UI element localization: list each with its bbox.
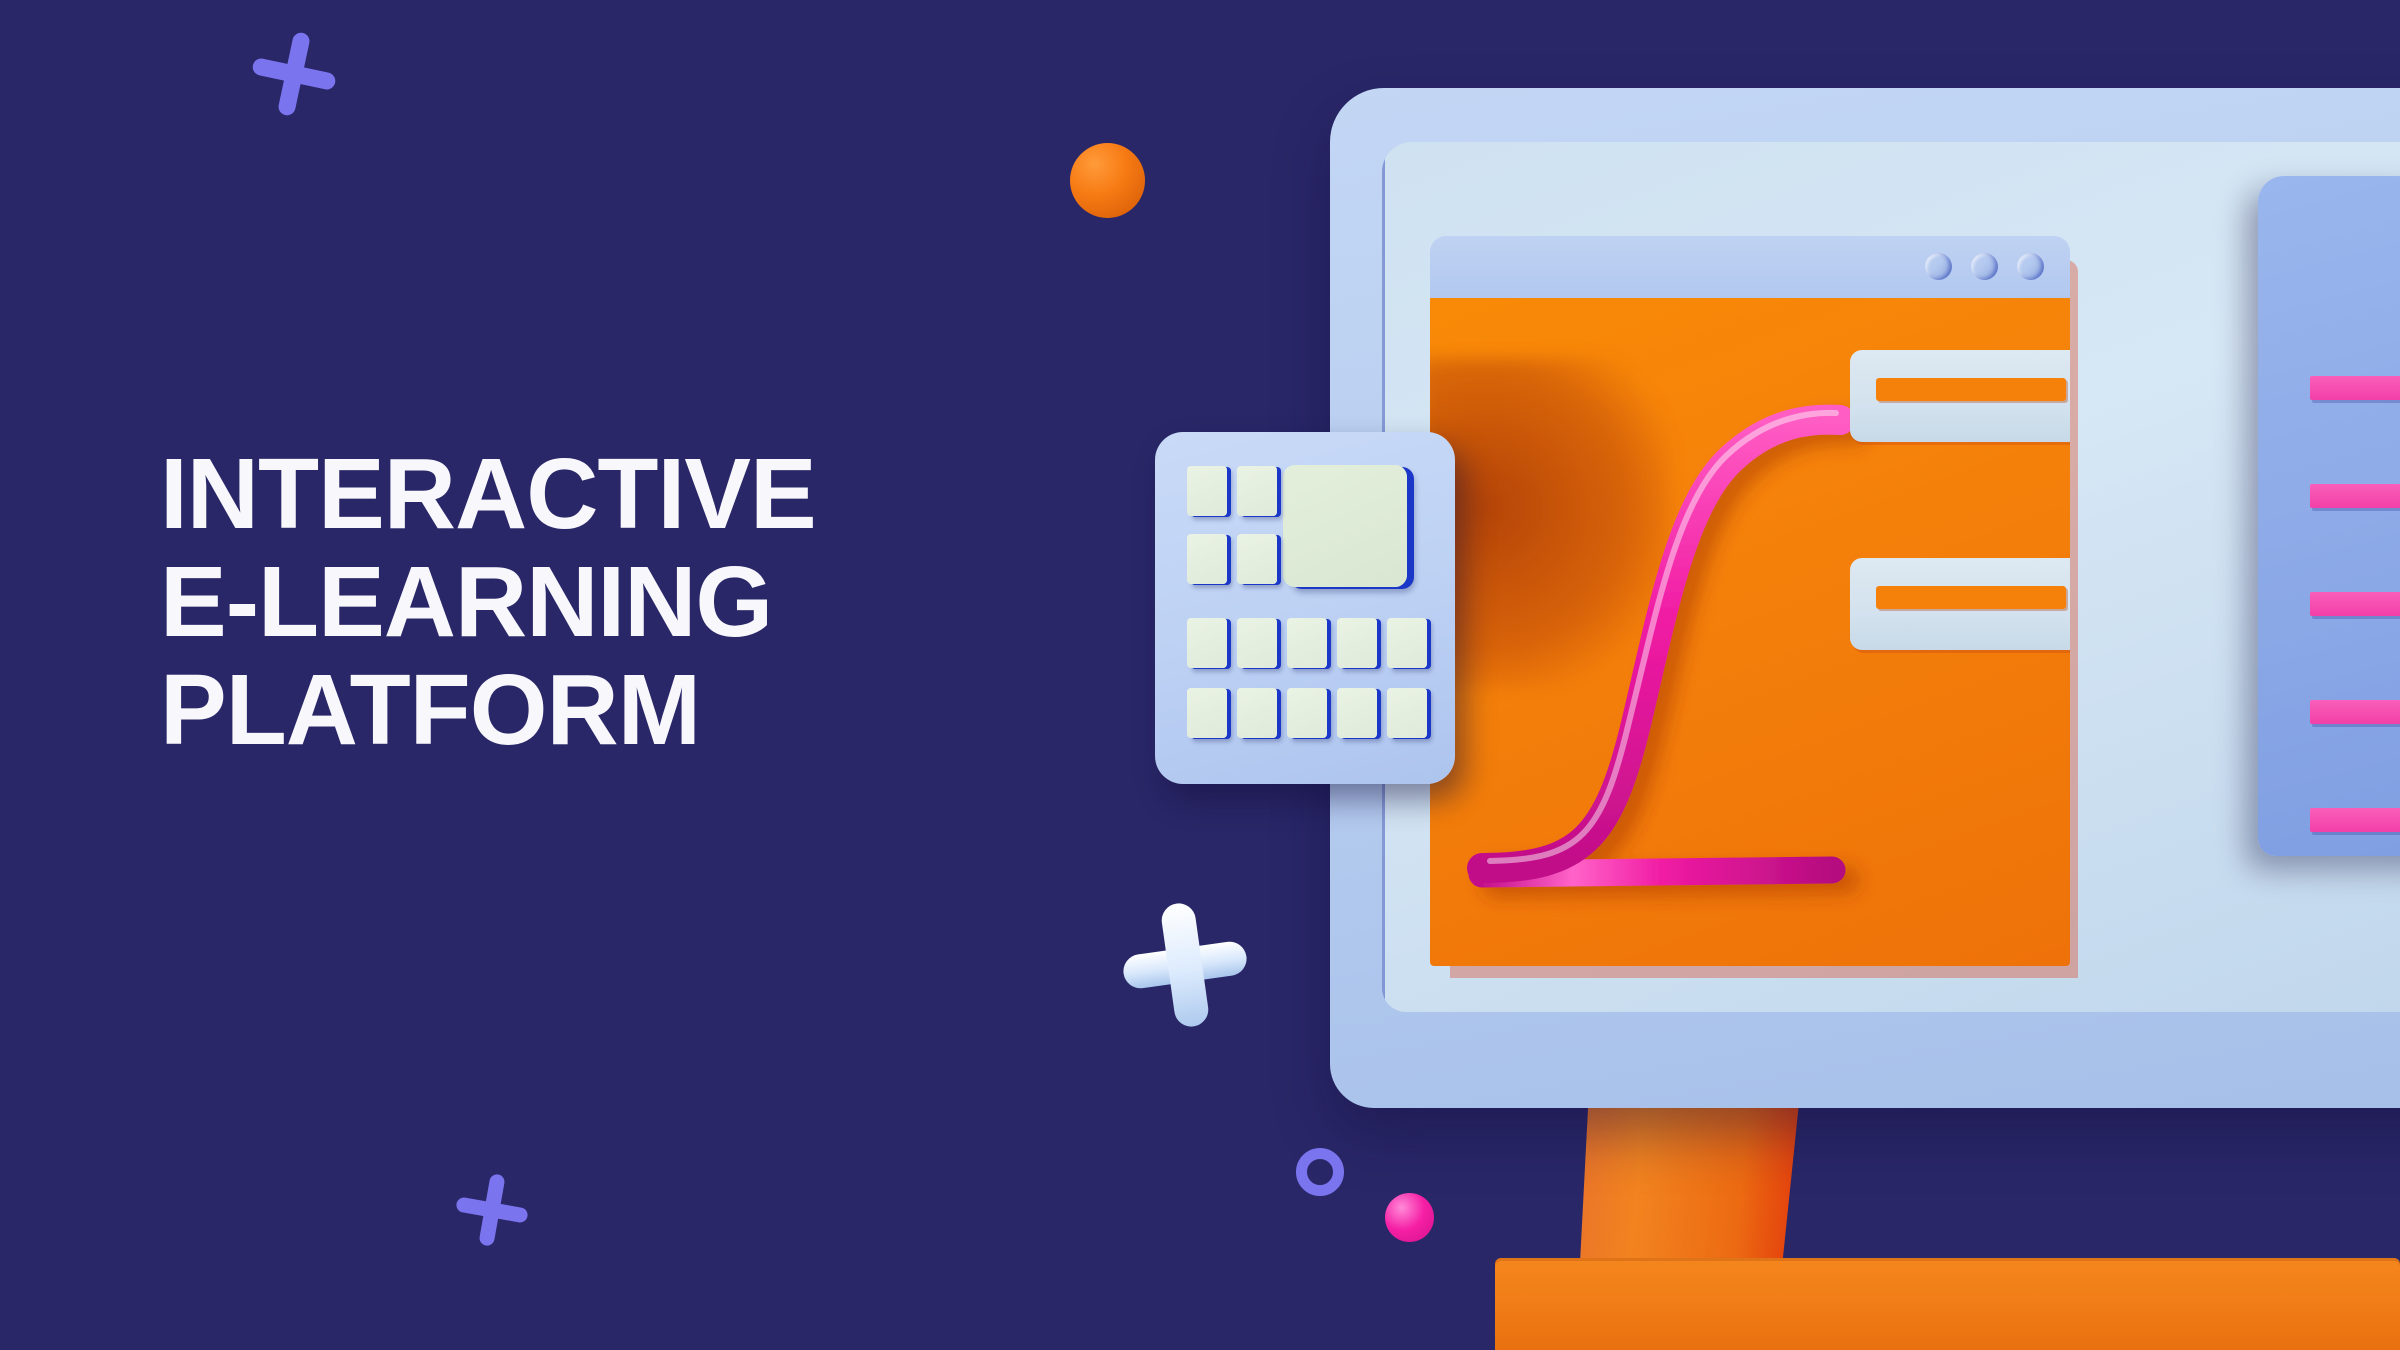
calculator-key[interactable] bbox=[1237, 534, 1277, 584]
plus-bar-vertical bbox=[277, 31, 311, 117]
list-item[interactable] bbox=[2310, 376, 2400, 400]
plus-bar-horizontal bbox=[455, 1196, 529, 1223]
calculator-key[interactable] bbox=[1387, 618, 1427, 668]
plus-icon-purple-top bbox=[239, 19, 348, 128]
calculator-key[interactable] bbox=[1237, 688, 1277, 738]
calculator-key[interactable] bbox=[1287, 618, 1327, 668]
calculator-key[interactable] bbox=[1337, 618, 1377, 668]
calculator-key[interactable] bbox=[1187, 534, 1227, 584]
input-field-2[interactable] bbox=[1850, 558, 2070, 650]
chart-sigmoid-line bbox=[1482, 420, 1840, 868]
plus-icon-purple-bottom bbox=[446, 1164, 539, 1257]
input-field-bar bbox=[1876, 378, 2066, 401]
calculator-key[interactable] bbox=[1187, 688, 1227, 738]
plus-bar-horizontal bbox=[1121, 940, 1249, 991]
calculator-key[interactable] bbox=[1287, 688, 1327, 738]
sphere-pink bbox=[1385, 1193, 1434, 1242]
calculator-key[interactable] bbox=[1237, 618, 1277, 668]
calculator-key[interactable] bbox=[1187, 618, 1227, 668]
headline-line-3: PLATFORM bbox=[160, 656, 1060, 764]
plus-bar-horizontal bbox=[251, 57, 337, 91]
app-window[interactable] bbox=[1430, 236, 2070, 966]
monitor-stand-neck bbox=[1580, 1093, 1800, 1263]
input-field-bar bbox=[1876, 586, 2066, 609]
window-dot-icon[interactable] bbox=[1971, 253, 1998, 280]
poster-canvas: INTERACTIVE E-LEARNING PLATFORM bbox=[0, 0, 2400, 1350]
chart-curve-group bbox=[1482, 413, 1840, 874]
input-field-1[interactable] bbox=[1850, 350, 2070, 442]
window-control-dots[interactable] bbox=[1925, 253, 2044, 280]
page-title: INTERACTIVE E-LEARNING PLATFORM bbox=[160, 440, 1060, 764]
calculator-display bbox=[1283, 465, 1407, 587]
plus-bar-vertical bbox=[478, 1173, 505, 1247]
window-dot-icon[interactable] bbox=[1925, 253, 1952, 280]
headline-line-1: INTERACTIVE bbox=[160, 440, 1060, 548]
calculator-key[interactable] bbox=[1337, 688, 1377, 738]
monitor-stand-base bbox=[1495, 1258, 2400, 1350]
list-item[interactable] bbox=[2310, 592, 2400, 616]
window-body bbox=[1430, 298, 2070, 966]
calculator-key[interactable] bbox=[1187, 466, 1227, 516]
window-titlebar bbox=[1430, 236, 2070, 298]
sphere-orange bbox=[1070, 143, 1145, 218]
plus-bar-vertical bbox=[1160, 901, 1211, 1029]
calculator-key[interactable] bbox=[1387, 688, 1427, 738]
ring-purple bbox=[1296, 1148, 1344, 1196]
calculator-key[interactable] bbox=[1237, 466, 1277, 516]
calculator-widget[interactable] bbox=[1155, 432, 1455, 784]
headline-line-2: E-LEARNING bbox=[160, 548, 1060, 656]
list-item[interactable] bbox=[2310, 700, 2400, 724]
list-item[interactable] bbox=[2310, 808, 2400, 832]
window-dot-icon[interactable] bbox=[2017, 253, 2044, 280]
plus-icon-light bbox=[1112, 892, 1259, 1039]
list-panel[interactable] bbox=[2258, 176, 2400, 856]
list-item[interactable] bbox=[2310, 484, 2400, 508]
